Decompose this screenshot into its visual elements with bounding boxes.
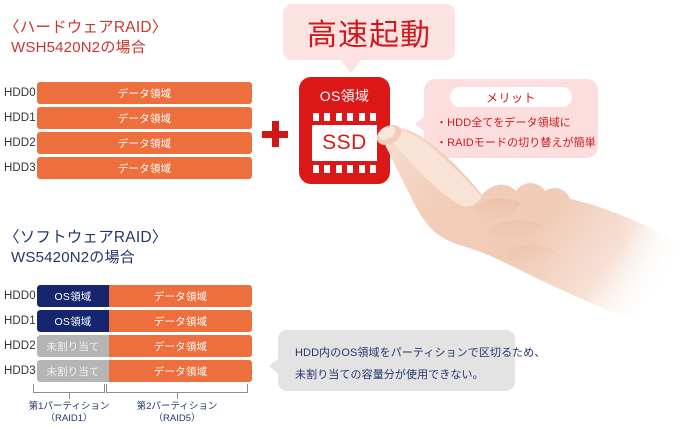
diagram-canvas: 〈ハードウェアRAID〉 WSH5420N2の場合 HDD0 データ領域 HDD… — [0, 0, 700, 429]
sw-unallocated-segment-3: 未割り当て — [37, 360, 109, 382]
partition-label-1: 第2パーティション （RAID5） — [123, 401, 231, 426]
partition-title-1: 第2パーティション — [123, 401, 231, 413]
fast-boot-bubble: 高速起動 — [283, 4, 455, 60]
hw-data-segment-3: データ領域 — [37, 157, 252, 179]
software-raid-heading-line1: 〈ソフトウェアRAID〉 — [4, 228, 167, 248]
fast-boot-bubble-tail — [340, 59, 362, 73]
sw-hdd-bar-2: 未割り当て データ領域 — [37, 335, 252, 357]
plus-icon — [262, 121, 288, 147]
sw-data-segment-1: データ領域 — [109, 310, 252, 332]
sw-hdd-bar-0: OS領域 データ領域 — [37, 285, 252, 307]
sw-data-segment-0: データ領域 — [109, 285, 252, 307]
sw-os-segment-0: OS領域 — [37, 285, 109, 307]
hardware-raid-heading-line2: WSH5420N2の場合 — [4, 38, 167, 57]
software-raid-heading-line2: WS5420N2の場合 — [4, 248, 167, 267]
sw-data-segment-3: データ領域 — [109, 360, 252, 382]
hw-hdd-label-2: HDD2 — [4, 132, 36, 154]
ssd-chip-pins-top — [313, 113, 376, 121]
hw-hdd-bar-2: データ領域 — [37, 132, 252, 154]
partition-label-0: 第1パーティション （RAID1） — [15, 401, 123, 426]
partition-title-0: 第1パーティション — [15, 401, 123, 413]
note-bubble: HDD内のOS領域をパーティションで区切るため、 未割り当ての容量分が使用できな… — [278, 330, 515, 391]
partition-raid-1: （RAID5） — [123, 413, 231, 425]
note-line-1: 未割り当ての容量分が使用できない。 — [295, 366, 484, 382]
hw-hdd-bar-0: データ領域 — [37, 82, 252, 104]
sw-unallocated-segment-2: 未割り当て — [37, 335, 109, 357]
hw-hdd-bar-1: データ領域 — [37, 107, 252, 129]
hw-hdd-label-3: HDD3 — [4, 157, 36, 179]
partition-bracket-1 — [106, 384, 248, 393]
ssd-chip: SSD — [312, 125, 377, 161]
hw-hdd-label-0: HDD0 — [4, 82, 36, 104]
partition-bracket-0 — [33, 384, 105, 393]
note-line-0: HDD内のOS領域をパーティションで区切るため、 — [295, 344, 545, 360]
hw-data-segment-2: データ領域 — [37, 132, 252, 154]
hw-data-segment-0: データ領域 — [37, 82, 252, 104]
ssd-chip-pins-bottom — [313, 165, 376, 173]
hw-hdd-bar-3: データ領域 — [37, 157, 252, 179]
ssd-chip-label: SSD — [322, 131, 367, 155]
software-raid-heading: 〈ソフトウェアRAID〉 WS5420N2の場合 — [4, 228, 167, 267]
partition-bracket-tick-0 — [69, 392, 70, 399]
sw-hdd-label-0: HDD0 — [4, 285, 36, 307]
sw-hdd-bar-3: 未割り当て データ領域 — [37, 360, 252, 382]
hw-data-segment-1: データ領域 — [37, 107, 252, 129]
sw-hdd-label-3: HDD3 — [4, 360, 36, 382]
fast-boot-label: 高速起動 — [307, 10, 431, 54]
sw-data-segment-2: データ領域 — [109, 335, 252, 357]
sw-os-segment-1: OS領域 — [37, 310, 109, 332]
sw-hdd-bar-1: OS領域 データ領域 — [37, 310, 252, 332]
partition-bracket-tick-1 — [177, 392, 178, 399]
hw-hdd-label-1: HDD1 — [4, 107, 36, 129]
ssd-card-title: OS領域 — [299, 86, 390, 106]
sw-hdd-label-1: HDD1 — [4, 310, 36, 332]
partition-raid-0: （RAID1） — [15, 413, 123, 425]
merit-title: メリット — [486, 89, 536, 106]
partition-brackets: 第1パーティション （RAID1） 第2パーティション （RAID5） — [33, 384, 248, 428]
hardware-raid-heading-line1: 〈ハードウェアRAID〉 — [4, 18, 167, 38]
merit-title-pill: メリット — [450, 87, 572, 107]
hardware-raid-heading: 〈ハードウェアRAID〉 WSH5420N2の場合 — [4, 18, 167, 57]
sw-hdd-label-2: HDD2 — [4, 335, 36, 357]
